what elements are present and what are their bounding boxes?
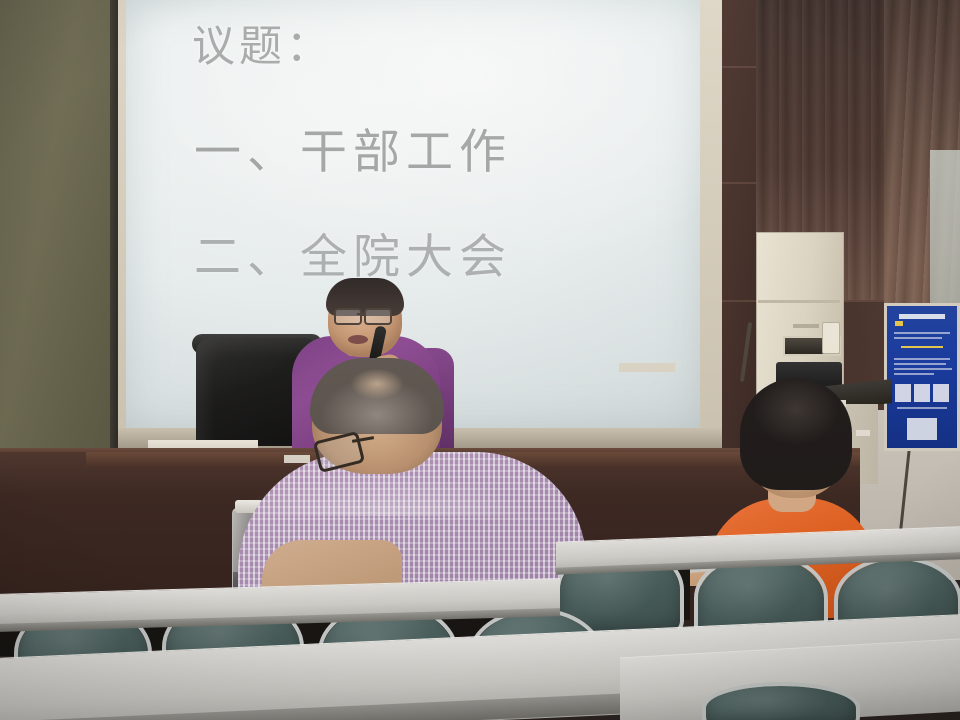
speaker-mouth xyxy=(348,335,368,344)
speaker-glasses-right-lens xyxy=(364,308,392,325)
woman-hair xyxy=(740,378,852,490)
blue-information-poster xyxy=(887,306,957,448)
front-man-scalp xyxy=(346,366,408,402)
nameplate-tag-3 xyxy=(856,430,870,436)
slide-title: 议题： xyxy=(192,12,333,74)
photo-scene: 议题： 一、干部工作 二、全院大会 xyxy=(0,0,960,720)
left-wall-panel xyxy=(0,0,118,452)
slide-agenda-item-1: 一、干部工作 xyxy=(194,113,512,182)
speaker-glasses-bridge xyxy=(357,313,366,315)
ac-logo xyxy=(793,324,819,328)
speaker-glasses-left-lens xyxy=(334,308,362,325)
slide-agenda-item-2: 二、全院大会 xyxy=(194,218,512,287)
ac-seam xyxy=(758,300,840,303)
ac-control-panel xyxy=(822,322,840,354)
